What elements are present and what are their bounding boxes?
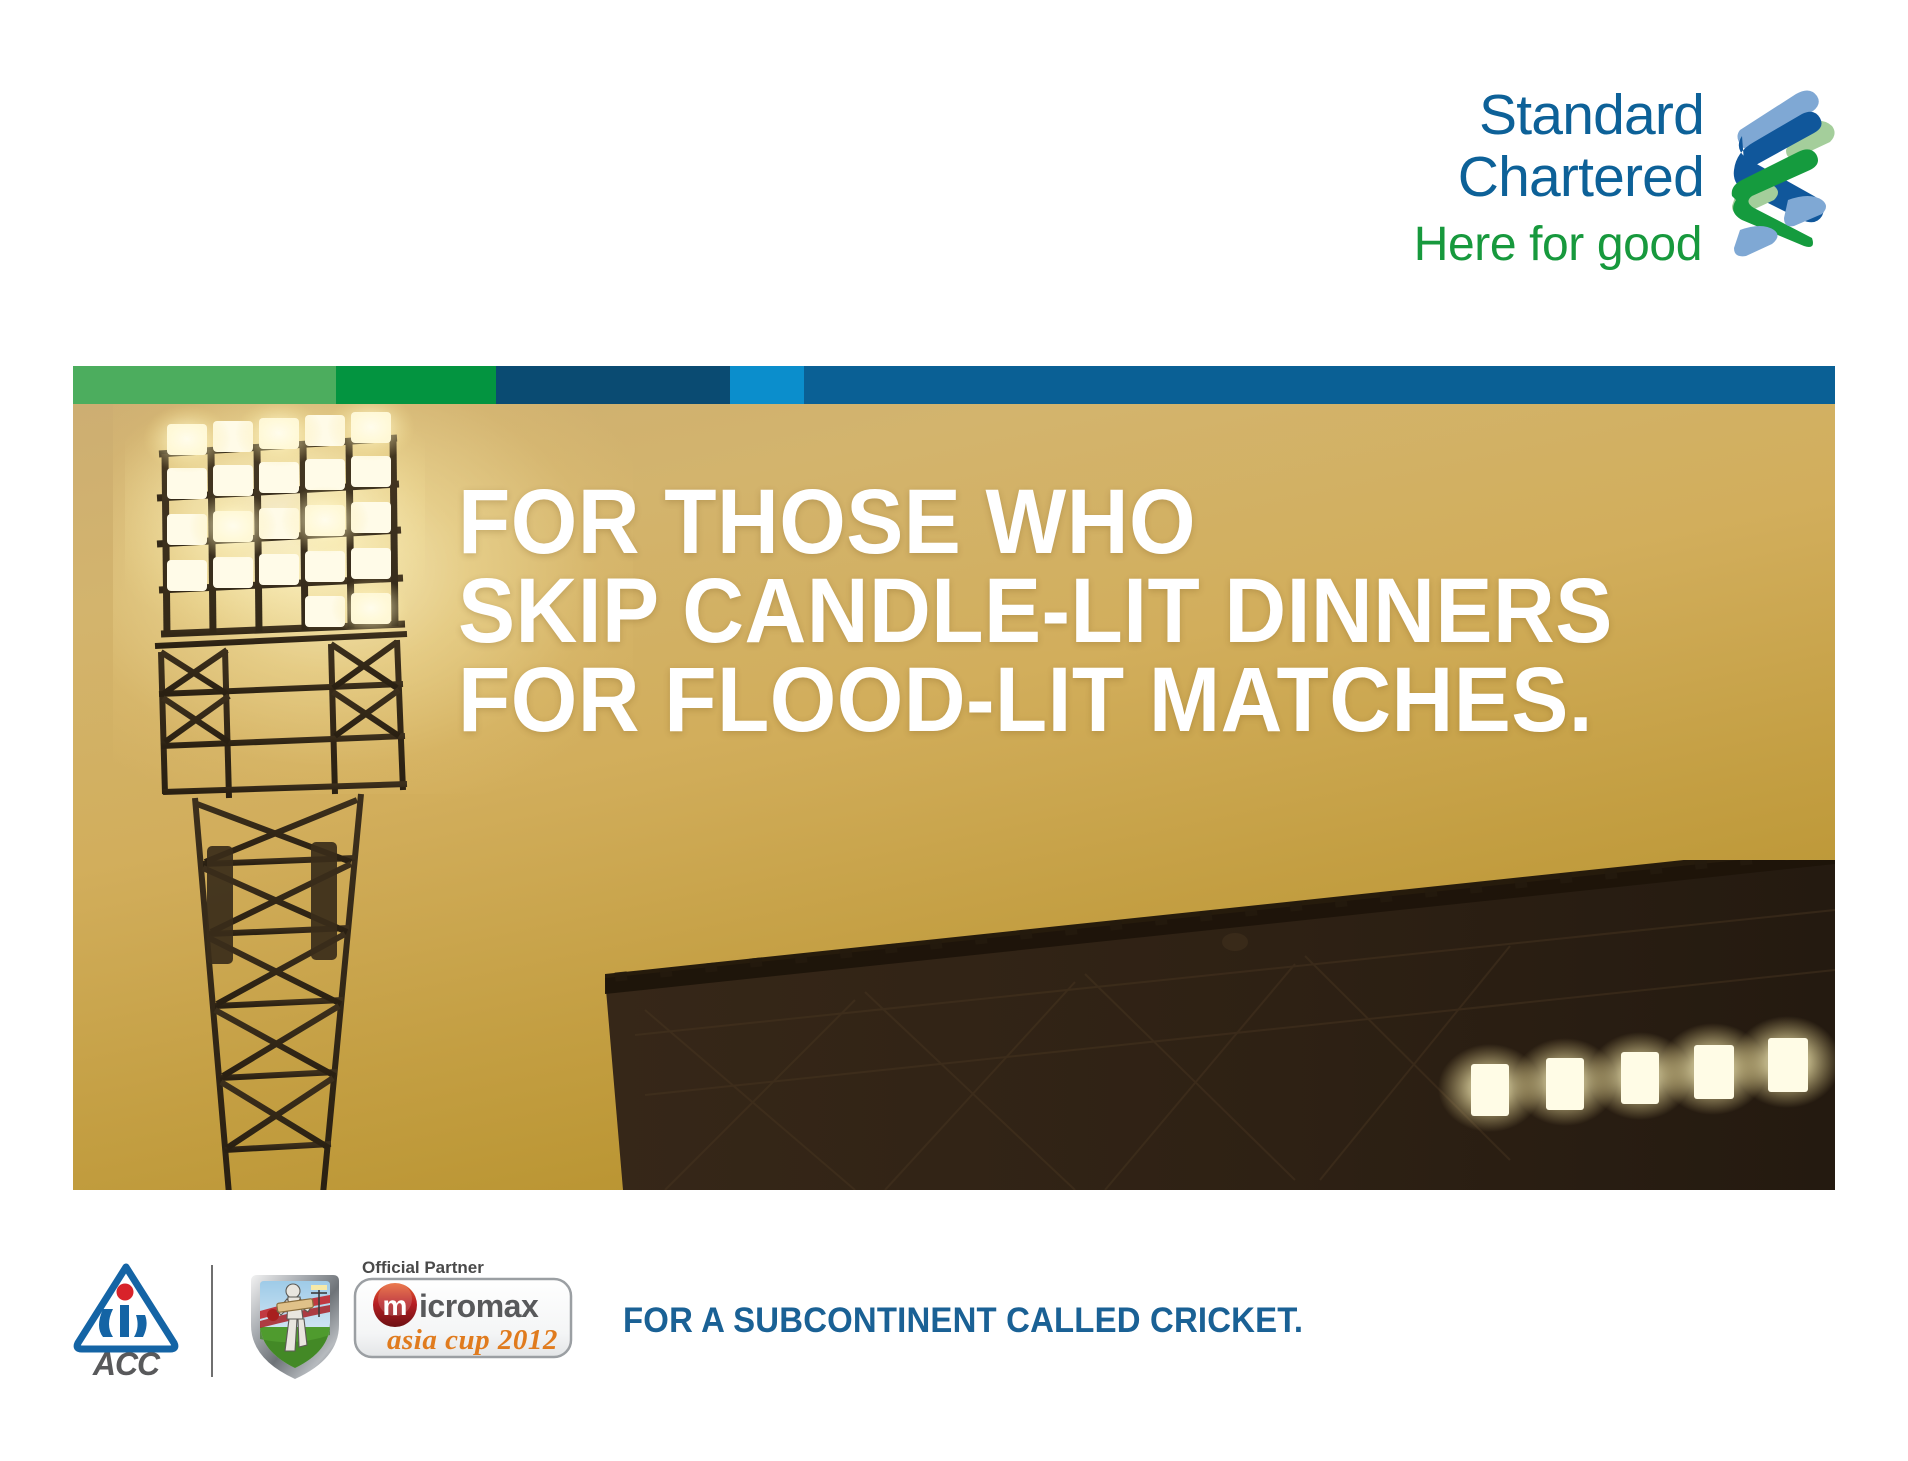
footer-bar: ACC <box>73 1248 1843 1393</box>
footer-divider <box>211 1265 213 1377</box>
asia-cup-event-name: asia cup 2012 <box>387 1324 558 1356</box>
advertisement-page: Standard Chartered Here for good <box>0 0 1908 1461</box>
hero-headline: FOR THOSE WHO SKIP CANDLE-LIT DINNERS FO… <box>458 478 1695 745</box>
brand-wordmark: Standard Chartered Here for good <box>1414 78 1704 274</box>
stadium-stand-silhouette-icon <box>605 860 1835 1190</box>
svg-text:m: m <box>383 1290 408 1321</box>
headline-line-2: SKIP CANDLE-LIT DINNERS <box>458 567 1695 656</box>
brand-name-line-1: Standard <box>1479 84 1704 146</box>
asia-cup-partner-lockup: Official Partner <box>237 1255 577 1387</box>
footer-tagline: FOR A SUBCONTINENT CALLED CRICKET. <box>623 1301 1303 1341</box>
headline-line-3: FOR FLOOD-LIT MATCHES. <box>458 656 1695 745</box>
svg-text:ACC: ACC <box>92 1346 161 1379</box>
floodlight-tower-icon <box>125 404 425 1190</box>
official-partner-label: Official Partner <box>362 1258 484 1277</box>
standard-chartered-logo-icon <box>1718 80 1840 262</box>
micromax-wordmark: icromax <box>419 1288 539 1324</box>
standard-chartered-brand-header: Standard Chartered Here for good <box>1414 78 1840 274</box>
brand-colour-bar <box>73 366 1835 404</box>
colour-segment-cyan-blue <box>730 366 804 404</box>
colour-segment-navy <box>496 366 730 404</box>
colour-segment-green <box>336 366 496 404</box>
hero-photo: FOR THOSE WHO SKIP CANDLE-LIT DINNERS FO… <box>73 404 1835 1190</box>
brand-name-line-2: Chartered <box>1458 146 1704 208</box>
headline-line-1: FOR THOSE WHO <box>458 478 1695 567</box>
brand-tagline: Here for good <box>1414 216 1704 274</box>
colour-segment-blue <box>804 366 1835 404</box>
acc-logo-icon: ACC <box>73 1263 179 1379</box>
colour-segment-light-green <box>73 366 336 404</box>
